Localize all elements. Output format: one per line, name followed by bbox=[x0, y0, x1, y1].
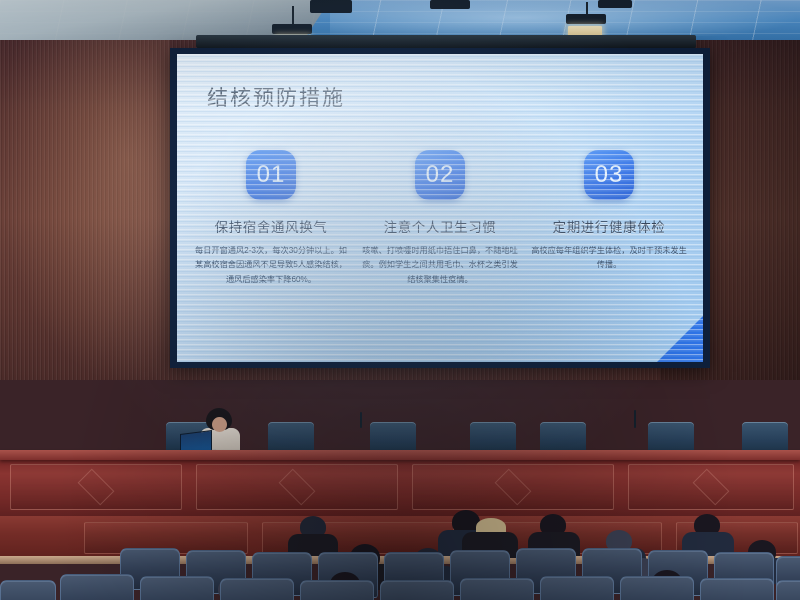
projection-screen: 结核预防措施 01 保持宿舍通风换气 每日开窗通风2-3次，每次30分钟以上。如… bbox=[170, 48, 710, 368]
measure-body-text: 每日开窗通风2-3次，每次30分钟以上。如某高校宿舍因通风不足导致5人感染结核，… bbox=[193, 244, 349, 287]
step-number-badge: 02 bbox=[415, 150, 465, 200]
podium-diamond-motif bbox=[78, 469, 115, 506]
prevention-measure-cards: 01 保持宿舍通风换气 每日开窗通风2-3次，每次30分钟以上。如某高校宿舍因通… bbox=[191, 150, 689, 287]
stage-chair bbox=[648, 422, 694, 452]
measure-heading: 注意个人卫生习惯 bbox=[384, 216, 497, 236]
spotlight-fixture bbox=[566, 14, 606, 24]
stage-chair bbox=[540, 422, 586, 452]
stage-chair bbox=[742, 422, 788, 452]
step-number-badge: 03 bbox=[584, 150, 634, 200]
auditorium-photo: 结核预防措施 01 保持宿舍通风换气 每日开窗通风2-3次，每次30分钟以上。如… bbox=[0, 0, 800, 600]
audience-seat bbox=[620, 576, 694, 600]
corner-accent-triangle bbox=[657, 316, 703, 362]
podium-diamond-motif bbox=[495, 469, 532, 506]
podium-panel bbox=[10, 464, 182, 510]
spotlight-fixture bbox=[310, 0, 352, 13]
podium-diamond-motif bbox=[693, 469, 730, 506]
audience-seat bbox=[220, 578, 294, 600]
podium-panel bbox=[412, 464, 614, 510]
stage-chair bbox=[370, 422, 416, 452]
stage-chair-row bbox=[0, 418, 800, 454]
measure-body-text: 咳嗽、打喷嚏时用纸巾捂住口鼻，不随地吐痰。例如学生之间共用毛巾、水杯之类引发结核… bbox=[362, 244, 518, 287]
stage-chair bbox=[470, 422, 516, 452]
microphone-stand bbox=[634, 410, 636, 428]
audience-seat bbox=[460, 578, 534, 600]
step-number-badge: 01 bbox=[246, 150, 296, 200]
audience-seat bbox=[540, 576, 614, 600]
measure-card-03: 03 定期进行健康体检 高校应每年组织学生体检，及时干预未发生传播。 bbox=[529, 150, 689, 287]
podium-counter-top bbox=[0, 450, 800, 460]
audience-seat bbox=[380, 580, 454, 600]
audience-seat bbox=[776, 580, 800, 600]
spotlight-fixture bbox=[598, 0, 632, 8]
microphone-stand bbox=[360, 412, 362, 428]
measure-card-01: 01 保持宿舍通风换气 每日开窗通风2-3次，每次30分钟以上。如某高校宿舍因通… bbox=[191, 150, 351, 287]
podium-panel bbox=[196, 464, 398, 510]
measure-card-02: 02 注意个人卫生习惯 咳嗽、打喷嚏时用纸巾捂住口鼻，不随地吐痰。例如学生之间共… bbox=[360, 150, 520, 287]
podium-diamond-motif bbox=[279, 469, 316, 506]
measure-heading: 定期进行健康体检 bbox=[553, 216, 666, 236]
spotlight-stem bbox=[292, 6, 294, 26]
page-title: 结核预防措施 bbox=[207, 82, 345, 112]
presenter-face bbox=[212, 417, 227, 432]
audience-seat bbox=[140, 576, 214, 600]
stage-chair bbox=[268, 422, 314, 452]
screen-valance-bar bbox=[196, 35, 696, 48]
audience-seat bbox=[60, 574, 134, 600]
audience-seat bbox=[0, 580, 56, 600]
presentation-slide: 结核预防措施 01 保持宿舍通风换气 每日开窗通风2-3次，每次30分钟以上。如… bbox=[177, 54, 703, 362]
audience-seat bbox=[700, 578, 774, 600]
spotlight-fixture bbox=[430, 0, 470, 9]
presenter bbox=[196, 408, 248, 454]
measure-heading: 保持宿舍通风换气 bbox=[215, 216, 328, 236]
measure-body-text: 高校应每年组织学生体检，及时干预未发生传播。 bbox=[531, 244, 687, 273]
podium-panel bbox=[628, 464, 794, 510]
audience-seat bbox=[300, 580, 374, 600]
ceiling-light-glow bbox=[330, 0, 800, 36]
spotlight-fixture bbox=[272, 24, 312, 34]
stage-podium bbox=[0, 450, 800, 518]
wall-highlight-left bbox=[0, 40, 170, 380]
